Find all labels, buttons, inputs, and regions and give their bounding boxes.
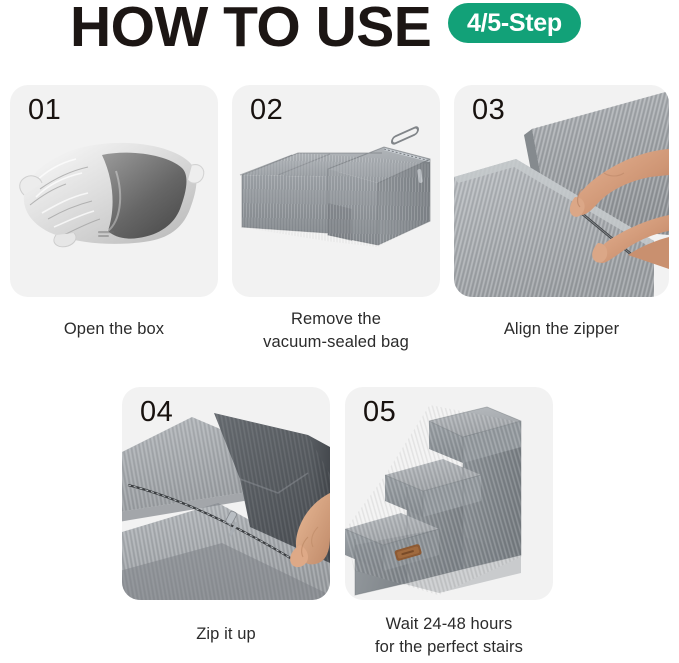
step-caption-05: Wait 24-48 hours for the perfect stairs	[345, 613, 553, 659]
step-number-04: 04	[140, 395, 173, 429]
step-02-line-2: vacuum-sealed bag	[232, 331, 440, 354]
step-card-04: 04	[122, 387, 330, 600]
step-04-line-1: Zip it up	[122, 623, 330, 646]
step-02-line-1: Remove the	[232, 308, 440, 331]
step-card-03: 03	[454, 85, 669, 297]
step-caption-04: Zip it up	[122, 623, 330, 646]
step-card-01: 01	[10, 85, 218, 297]
step-01-line-1: Open the box	[10, 318, 218, 341]
step-03-line-1: Align the zipper	[454, 318, 669, 341]
step-caption-02: Remove the vacuum-sealed bag	[232, 308, 440, 354]
step-05-line-2: for the perfect stairs	[345, 636, 553, 659]
step-card-02: 02	[232, 85, 440, 297]
step-card-05: 05	[345, 387, 553, 600]
step-number-05: 05	[363, 395, 396, 429]
step-caption-03: Align the zipper	[454, 318, 669, 341]
step-caption-01: Open the box	[10, 318, 218, 341]
page-header: HOW TO USE 4/5-Step	[0, 0, 679, 64]
step-number-03: 03	[472, 93, 505, 127]
page-title: HOW TO USE	[70, 0, 431, 59]
step-number-02: 02	[250, 93, 283, 127]
step-number-01: 01	[28, 93, 61, 127]
step-count-badge: 4/5-Step	[448, 3, 581, 43]
step-05-line-1: Wait 24-48 hours	[345, 613, 553, 636]
